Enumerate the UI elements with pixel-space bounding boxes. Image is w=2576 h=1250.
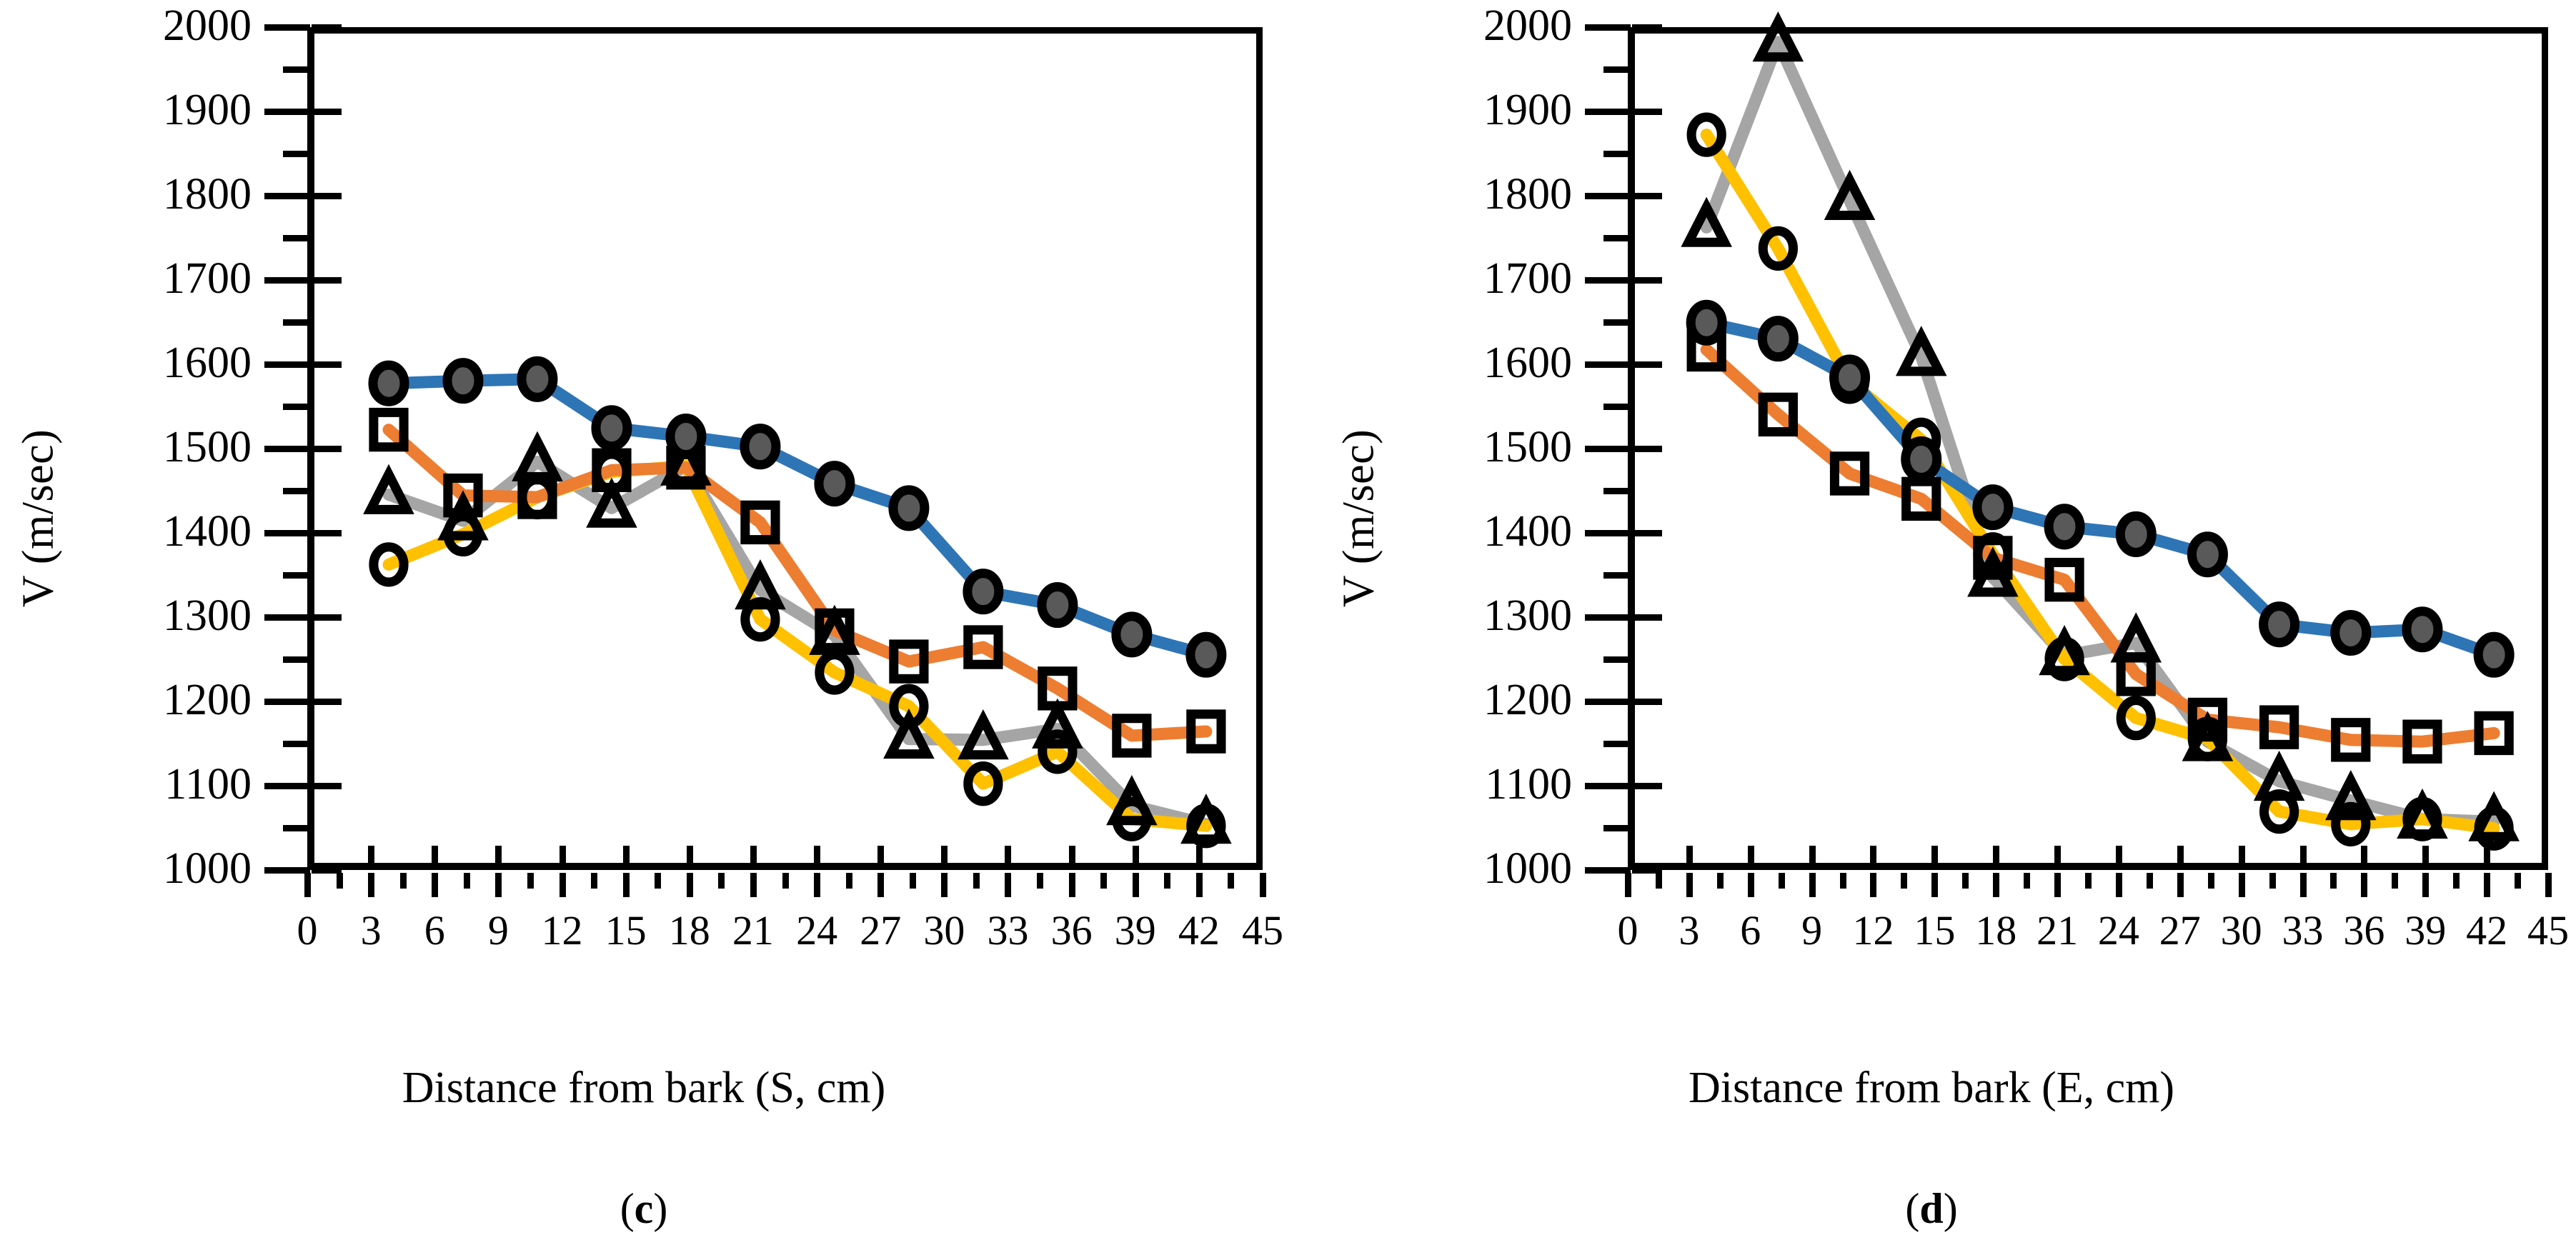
x-tick-minor [2392,873,2398,889]
panel-label-letter-c: c [635,1185,654,1232]
y-tick-minor [1603,66,1629,73]
x-tick-minor [591,873,597,889]
x-tick-inner [1931,846,1938,867]
y-tick-label: 1200 [37,678,252,722]
x-tick-major [1005,873,1011,897]
x-tick-minor [2515,873,2521,889]
y-tick-minor [1603,151,1629,157]
y-tick-minor [1603,235,1629,241]
data-point-series1 [2264,606,2295,643]
y-tick-minor [283,825,309,831]
y-tick-major [264,867,310,874]
plot-area-d [1628,27,2548,870]
y-tick-label: 1800 [37,172,252,216]
y-tick-minor [283,319,309,326]
x-tick-major [1260,873,1266,897]
y-tick-major [1585,699,1631,705]
x-tick-major [750,873,757,897]
y-tick-label: 1400 [1358,509,1572,554]
y-tick-minor [283,66,309,73]
y-tick-inner [312,109,342,115]
x-tick-inner [1993,846,1999,867]
x-tick-minor [1037,873,1043,889]
x-tick-inner [1069,846,1075,867]
x-tick-major [1069,873,1075,897]
x-tick-minor [910,873,916,889]
y-tick-label: 1900 [37,88,252,132]
y-tick-label: 1100 [37,762,252,806]
x-tick-inner [814,846,820,867]
y-tick-label: 1700 [37,256,252,301]
y-tick-inner [1632,109,1662,115]
series-line-series4 [1706,135,2494,829]
x-tick-inner [687,846,693,867]
y-tick-major [264,24,310,31]
y-tick-inner [1632,783,1662,789]
y-tick-minor [1603,404,1629,410]
y-tick-inner [1632,614,1662,621]
y-tick-inner [1632,193,1662,199]
y-tick-inner [1632,24,1662,31]
y-tick-minor [283,235,309,241]
x-tick-major [814,873,820,897]
y-tick-inner [312,614,342,621]
data-point-series1 [1116,616,1148,653]
x-tick-minor [1840,873,1846,889]
x-tick-major [495,873,502,897]
data-point-series1 [819,466,850,502]
x-tick-inner [2300,846,2307,867]
x-tick-major [623,873,630,897]
data-point-series1 [1906,441,1937,477]
x-tick-major [2239,873,2245,897]
x-axis-title-c: Distance from bark (S, cm) [0,1063,1288,1114]
x-tick-minor [527,873,534,889]
y-tick-inner [1632,699,1662,705]
y-tick-major [1585,24,1631,31]
x-tick-major [368,873,374,897]
x-tick-inner [1748,846,1754,867]
x-tick-inner [495,846,502,867]
y-tick-inner [1632,446,1662,452]
x-tick-major [1993,873,1999,897]
y-tick-label: 1500 [37,425,252,469]
y-tick-label: 2000 [37,4,252,48]
y-tick-major [264,783,310,789]
series-line-series3 [1706,42,2494,822]
y-tick-inner [312,530,342,536]
x-tick-minor [337,873,343,889]
x-tick-inner [368,846,374,867]
panel-d: V (m/sec) 100011001200130014001500160017… [1288,0,2575,1250]
x-tick-major [941,873,948,897]
x-tick-minor [2208,873,2214,889]
y-tick-label: 1300 [37,594,252,638]
x-tick-inner [432,846,438,867]
data-point-series1 [2407,611,2438,648]
y-tick-label: 1200 [1358,678,1572,722]
x-tick-major [1686,873,1693,897]
x-tick-major [2116,873,2122,897]
x-tick-minor [1901,873,1907,889]
y-tick-major [1585,867,1631,874]
x-tick-inner [750,846,757,867]
data-point-series1 [1834,359,1866,396]
x-tick-minor [2330,873,2337,889]
y-tick-label: 2000 [1358,4,1572,48]
data-point-series1 [2478,636,2510,673]
series-line-series1 [1706,323,2494,655]
data-point-series1 [893,490,925,526]
x-tick-minor [973,873,980,889]
y-tick-inner [1632,530,1662,536]
x-tick-major [687,873,693,897]
y-tick-minor [1603,319,1629,326]
x-tick-major [1748,873,1754,897]
x-tick-minor [2269,873,2276,889]
y-tick-major [264,699,310,705]
data-point-series1 [596,410,627,446]
y-tick-inner [312,446,342,452]
x-tick-inner [877,846,884,867]
x-tick-minor [718,873,725,889]
x-tick-major [304,873,311,897]
y-tick-inner [312,361,342,368]
y-tick-label: 1400 [37,509,252,554]
x-tick-inner [560,846,566,867]
y-tick-minor [1603,656,1629,663]
panel-label-c: (c) [0,1184,1288,1234]
data-point-series1 [2049,509,2080,545]
y-tick-label: 1900 [1358,88,1572,132]
y-tick-minor [1603,825,1629,831]
x-tick-major [2422,873,2429,897]
y-tick-major [264,614,310,621]
y-tick-label: 1600 [1358,341,1572,385]
y-tick-minor [283,404,309,410]
x-tick-minor [1228,873,1234,889]
data-point-series1 [2120,516,2152,552]
x-tick-minor [400,873,407,889]
x-tick-major [560,873,566,897]
x-tick-major [2300,873,2307,897]
y-tick-major [264,109,310,115]
y-tick-major [1585,361,1631,368]
x-tick-inner [1686,846,1693,867]
y-tick-label: 1300 [1358,594,1572,638]
figure-container: V (m/sec) 100011001200130014001500160017… [0,0,2576,1250]
x-tick-major [2545,873,2552,897]
data-point-series1 [2192,536,2223,573]
data-point-series1 [670,419,702,455]
data-point-series1 [1762,321,1794,357]
y-tick-major [1585,783,1631,789]
data-point-series1 [447,363,479,399]
y-tick-label: 1600 [37,341,252,385]
y-tick-inner [312,193,342,199]
x-tick-major [2054,873,2061,897]
x-tick-major [1625,873,1631,897]
panel-label-d: (d) [1288,1184,2575,1234]
y-tick-major [264,530,310,536]
y-tick-label: 1700 [1358,256,1572,301]
data-point-series1 [522,361,553,397]
y-tick-inner [312,24,342,31]
x-tick-minor [846,873,852,889]
y-tick-inner [312,699,342,705]
y-tick-major [1585,193,1631,199]
y-tick-major [264,361,310,368]
data-point-series1 [2335,614,2367,651]
x-tick-minor [2147,873,2153,889]
x-tick-major [1809,873,1816,897]
y-tick-inner [1632,277,1662,284]
x-tick-inner [2054,846,2061,867]
x-tick-inner [2422,846,2429,867]
x-tick-major [1931,873,1938,897]
x-tick-inner [1196,846,1203,867]
data-point-series1 [1042,587,1073,624]
y-tick-label: 1500 [1358,425,1572,469]
y-tick-minor [1603,488,1629,494]
data-point-series1 [1190,636,1222,673]
x-tick-inner [2484,846,2490,867]
x-tick-inner [1005,846,1011,867]
x-tick-minor [1779,873,1785,889]
y-tick-major [1585,446,1631,452]
panel-label-letter-d: d [1919,1185,1943,1232]
y-tick-minor [283,151,309,157]
x-tick-major [1133,873,1139,897]
x-tick-inner [2116,846,2122,867]
x-tick-inner [1870,846,1876,867]
y-tick-major [1585,614,1631,621]
y-tick-label: 1000 [37,846,252,891]
x-tick-minor [2024,873,2030,889]
data-point-series1 [373,365,404,401]
x-tick-inner [1133,846,1139,867]
x-tick-minor [1717,873,1724,889]
y-tick-label: 1000 [1358,846,1572,891]
x-tick-minor [1164,873,1170,889]
x-tick-label: 45 [2477,910,2576,951]
y-tick-minor [1603,741,1629,747]
y-tick-major [264,277,310,284]
data-point-series1 [1977,489,2009,526]
y-tick-minor [1603,572,1629,579]
y-tick-label: 1100 [1358,762,1572,806]
plot-area-c [307,27,1263,870]
data-point-series1 [968,574,999,610]
x-tick-major [2361,873,2367,897]
series-line-series4 [389,466,1206,826]
y-tick-major [264,193,310,199]
x-tick-inner [941,846,948,867]
y-tick-label: 1800 [1358,172,1572,216]
x-tick-major [432,873,438,897]
x-tick-minor [1656,873,1662,889]
x-tick-minor [2085,873,2092,889]
x-tick-inner [2361,846,2367,867]
panel-c: V (m/sec) 100011001200130014001500160017… [0,0,1288,1250]
x-tick-minor [464,873,470,889]
data-point-series1 [745,429,776,465]
x-axis-title-d: Distance from bark (E, cm) [1288,1063,2575,1114]
x-tick-major [1870,873,1876,897]
y-tick-minor [283,572,309,579]
x-tick-inner [623,846,630,867]
x-tick-inner [2239,846,2245,867]
x-tick-major [2177,873,2184,897]
y-tick-minor [283,741,309,747]
y-tick-inner [312,783,342,789]
y-tick-minor [283,656,309,663]
x-tick-minor [2453,873,2460,889]
y-tick-inner [312,277,342,284]
x-tick-minor [782,873,789,889]
x-tick-major [877,873,884,897]
y-tick-minor [283,488,309,494]
data-point-series1 [1691,304,1722,341]
series-canvas-d [1635,34,2555,876]
x-tick-inner [2177,846,2184,867]
x-tick-minor [655,873,661,889]
y-tick-major [1585,530,1631,536]
x-tick-major [1196,873,1203,897]
y-tick-inner [1632,361,1662,368]
x-tick-major [2484,873,2490,897]
series-canvas-c [314,34,1270,876]
x-tick-minor [1962,873,1969,889]
x-tick-minor [1100,873,1107,889]
y-tick-major [264,446,310,452]
y-tick-major [1585,277,1631,284]
y-tick-major [1585,109,1631,115]
x-tick-inner [1809,846,1816,867]
